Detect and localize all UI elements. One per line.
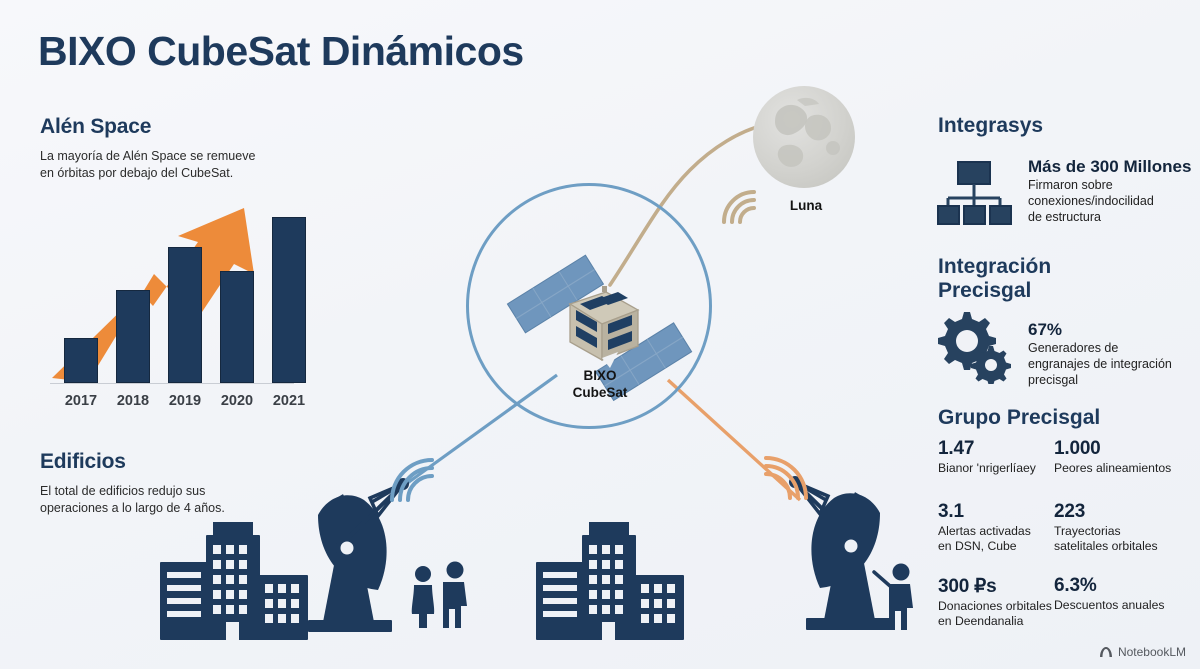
stat-5-label: Descuentos anuales bbox=[1054, 598, 1182, 613]
stat-3-label: Trayectorias satelitales orbitales bbox=[1054, 524, 1182, 554]
buildings-left-icon bbox=[160, 522, 308, 640]
stat-5-number: 6.3% bbox=[1054, 575, 1182, 597]
signal-waves-left-icon bbox=[392, 460, 432, 500]
integracion-desc: Generadores de engranajes de integración… bbox=[1028, 340, 1200, 388]
stat-1-number: 1.000 bbox=[1054, 438, 1182, 460]
integrasys-desc: Firmaron sobre conexiones/indocilidad de… bbox=[1028, 177, 1200, 225]
integracion-stat: 67% Generadores de engranajes de integra… bbox=[1028, 320, 1200, 388]
infographic-canvas: BIXO CubeSat Dinámicos Alén Space La may… bbox=[0, 0, 1200, 669]
satellite-dish-left-icon bbox=[308, 478, 409, 632]
stat-0-label: Bianor 'nrigerlíaey bbox=[938, 461, 1066, 476]
stat-item-1: 1.000 Peores alineamientos bbox=[1054, 438, 1182, 476]
integrasys-desc-line-1: Firmaron sobre bbox=[1028, 177, 1200, 193]
stat-item-3: 223 Trayectorias satelitales orbitales bbox=[1054, 501, 1182, 554]
integracion-desc-line-2: engranajes de integración bbox=[1028, 356, 1200, 372]
stat-item-0: 1.47 Bianor 'nrigerlíaey bbox=[938, 438, 1066, 476]
integracion-heading-line-2: Precisgal bbox=[938, 279, 1138, 303]
watermark-label: NotebookLM bbox=[1118, 645, 1186, 659]
integrasys-desc-line-3: de estructura bbox=[1028, 209, 1200, 225]
gears-icon bbox=[932, 308, 1016, 384]
watermark: NotebookLM bbox=[1099, 645, 1186, 659]
integracion-value: 67% bbox=[1028, 320, 1200, 340]
stat-4-label: Donaciones orbitales en Deendanalia bbox=[938, 599, 1062, 629]
stat-1-label: Peores alineamientos bbox=[1054, 461, 1182, 476]
integrasys-stat: Más de 300 Millones Firmaron sobre conex… bbox=[1028, 157, 1200, 225]
stat-item-2: 3.1 Alertas activadas en DSN, Cube bbox=[938, 501, 1066, 554]
section-heading-integracion: Integración Precisgal bbox=[938, 255, 1138, 303]
signal-waves-right-icon bbox=[766, 458, 806, 498]
section-heading-grupo-precisgal: Grupo Precisgal bbox=[938, 406, 1100, 430]
integracion-desc-line-3: precisgal bbox=[1028, 372, 1200, 388]
integracion-desc-line-1: Generadores de bbox=[1028, 340, 1200, 356]
notebooklm-logo-icon bbox=[1099, 646, 1113, 658]
stat-item-5: 6.3% Descuentos anuales bbox=[1054, 575, 1182, 613]
people-pair-icon bbox=[412, 562, 467, 629]
ground-scenery bbox=[0, 0, 1200, 669]
stat-4-number: 300 ₽s bbox=[938, 575, 1062, 598]
hierarchy-icon bbox=[936, 160, 1012, 226]
integrasys-value: Más de 300 Millones bbox=[1028, 157, 1200, 177]
satellite-dish-right-icon bbox=[789, 476, 890, 630]
stat-2-number: 3.1 bbox=[938, 501, 1066, 523]
integracion-heading-line-1: Integración bbox=[938, 255, 1138, 279]
stat-3-number: 223 bbox=[1054, 501, 1182, 523]
section-heading-integrasys: Integrasys bbox=[938, 114, 1043, 138]
stat-0-number: 1.47 bbox=[938, 438, 1066, 460]
stat-2-label: Alertas activadas en DSN, Cube bbox=[938, 524, 1066, 554]
buildings-right-icon bbox=[536, 522, 684, 640]
integrasys-desc-line-2: conexiones/indocilidad bbox=[1028, 193, 1200, 209]
stat-item-4: 300 ₽s Donaciones orbitales en Deendanal… bbox=[938, 575, 1062, 629]
